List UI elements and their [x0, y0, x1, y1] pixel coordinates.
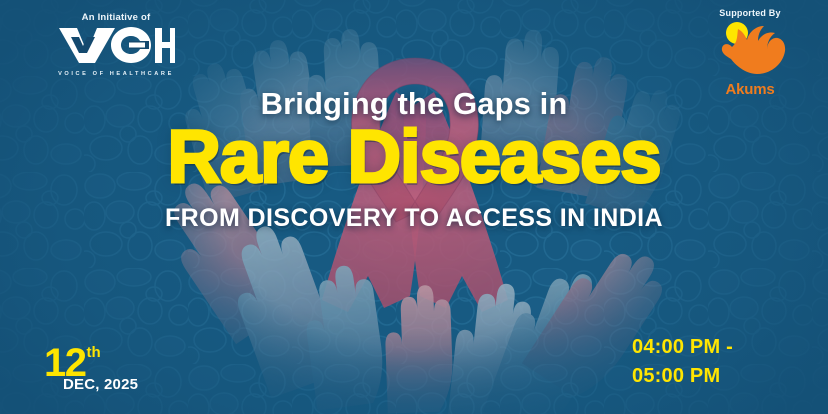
event-time: 04:00 PM - 05:00 PM — [632, 333, 800, 390]
event-day-ordinal: th — [87, 344, 101, 361]
akums-hand-sun-icon — [694, 19, 806, 82]
headline-block: Bridging the Gaps in Rare Diseases FROM … — [0, 88, 828, 233]
page-title: Rare Diseases — [0, 121, 828, 192]
event-month-year: DEC, 2025 — [63, 377, 138, 392]
headline-subtitle: FROM DISCOVERY TO ACCESS IN INDIA — [0, 204, 828, 233]
akums-partner-logo: Supported By Akums — [694, 8, 806, 98]
event-banner: An Initiative of VOICE OF HEALTHCARE Sup… — [0, 0, 828, 414]
akums-kicker-label: Supported By — [694, 8, 806, 18]
event-time-start: 04:00 PM - — [632, 333, 800, 361]
event-date: 12th DEC, 2025 — [44, 343, 138, 392]
voh-kicker-label: An Initiative of — [36, 12, 196, 23]
event-time-end: 05:00 PM — [632, 362, 800, 390]
voh-partner-logo: An Initiative of VOICE OF HEALTHCARE — [36, 12, 196, 77]
voh-logo-icon — [36, 25, 196, 70]
voh-tagline: VOICE OF HEALTHCARE — [36, 71, 196, 77]
